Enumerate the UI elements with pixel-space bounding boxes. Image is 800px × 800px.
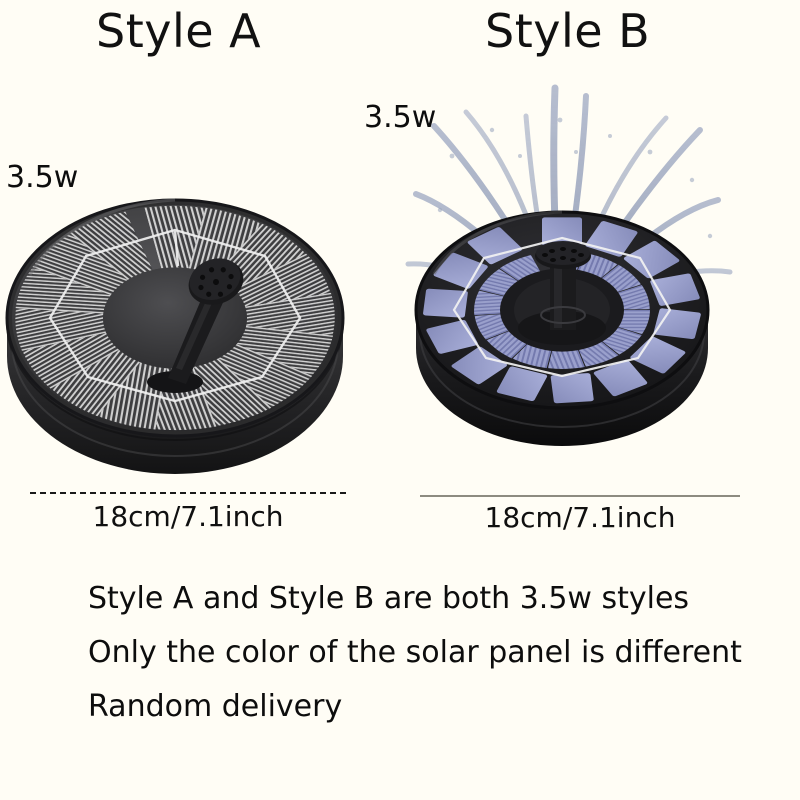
product-title-style-b: Style B: [485, 4, 650, 58]
note-line-1: Style A and Style B are both 3.5w styles: [88, 572, 748, 626]
product-image-style-b: [400, 60, 800, 500]
product-comparison-page: Style A Style B 3.5w 3.5w: [0, 0, 800, 800]
description-notes: Style A and Style B are both 3.5w styles…: [88, 572, 748, 734]
dimension-label-style-b: 18cm/7.1inch: [420, 501, 740, 534]
dimension-label-style-a: 18cm/7.1inch: [30, 500, 346, 533]
product-image-style-a: [0, 170, 400, 500]
dimension-ruler-style-a: 18cm/7.1inch: [30, 492, 346, 533]
product-title-style-a: Style A: [96, 4, 261, 58]
dimension-line-style-a: [30, 492, 346, 494]
panel-face-style-a: [4, 199, 345, 437]
dimension-line-style-b: [420, 495, 740, 497]
note-line-2: Only the color of the solar panel is dif…: [88, 626, 748, 680]
dimension-ruler-style-b: 18cm/7.1inch: [420, 495, 740, 534]
note-line-3: Random delivery: [88, 680, 748, 734]
